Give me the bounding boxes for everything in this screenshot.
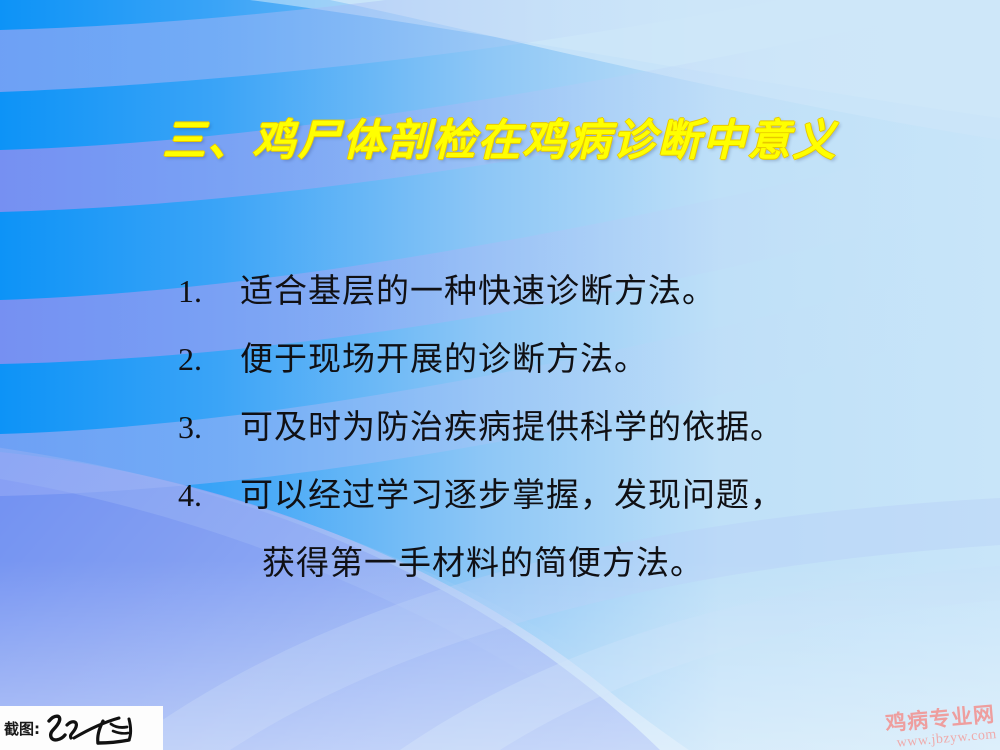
list-item: 1. 适合基层的一种快速诊断方法。 (178, 262, 938, 320)
list-item-continuation: 获得第一手材料的简便方法。 (262, 534, 938, 591)
list-item-number: 2. (178, 331, 240, 388)
list-item-text: 可以经过学习逐步掌握，发现问题， (240, 466, 784, 523)
list-item-number: 3. (178, 399, 240, 456)
list-item: 3. 可及时为防治疾病提供科学的依据。 (178, 398, 938, 456)
body-list: 1. 适合基层的一种快速诊断方法。 2. 便于现场开展的诊断方法。 3. 可及时… (178, 262, 938, 591)
list-item-number: 4. (178, 467, 240, 524)
list-item-number: 1. (178, 263, 240, 320)
list-item-text: 可及时为防治疾病提供科学的依据。 (240, 398, 784, 455)
list-item-text: 适合基层的一种快速诊断方法。 (240, 262, 716, 319)
capture-watermark-label: 截图: (0, 718, 40, 739)
handwritten-signature-icon (41, 707, 141, 749)
list-item: 4. 可以经过学习逐步掌握，发现问题， (178, 466, 938, 524)
list-item-text: 便于现场开展的诊断方法。 (240, 330, 648, 387)
slide-title: 三、鸡尸体剖检在鸡病诊断中意义 (0, 118, 1000, 165)
list-item: 2. 便于现场开展的诊断方法。 (178, 330, 938, 388)
slide-canvas: 三、鸡尸体剖检在鸡病诊断中意义 1. 适合基层的一种快速诊断方法。 2. 便于现… (0, 0, 1000, 750)
capture-watermark: 截图: (0, 706, 163, 750)
